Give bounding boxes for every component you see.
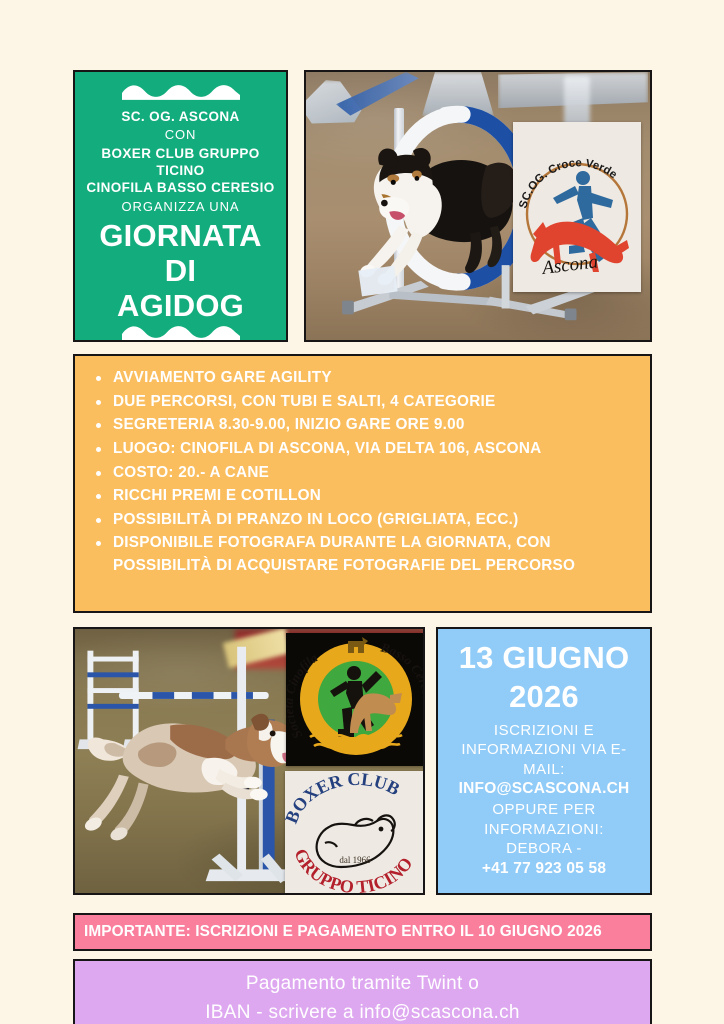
important-deadline-text: IMPORTANTE: ISCRIZIONI E PAGAMENTO ENTRO… (84, 923, 602, 941)
details-orange-panel: AVVIAMENTO GARE AGILITY DUE PERCORSI, CO… (73, 354, 652, 613)
contact-email[interactable]: INFO@SCASCONA.CH (459, 779, 630, 800)
sign-boxer-club: BOXER CLUB GRUPPO TICINO dal 1966 (285, 771, 425, 893)
list-item: COSTO: 20.- A CANE (93, 462, 636, 485)
organizza-label: ORGANIZZA UNA (122, 197, 240, 217)
org-partner-1-label: BOXER CLUB GRUPPO (101, 145, 259, 162)
boxer-club-logo-icon: BOXER CLUB GRUPPO TICINO dal 1966 (285, 771, 425, 893)
event-year-label: 2026 (509, 674, 579, 721)
list-item: DUE PERCORSI, CON TUBI E SALTI, 4 CATEGO… (93, 391, 636, 414)
org-main-label: SC. OG. ASCONA (121, 108, 239, 125)
wave-divider-bottom-icon (122, 325, 240, 341)
poster-title-line-1: GIORNATA DI (83, 219, 278, 288)
event-details-list: AVVIAMENTO GARE AGILITY DUE PERCORSI, CO… (93, 367, 636, 578)
croce-verde-logo-icon: Ascona SC.OG. Croce Verde (513, 122, 641, 292)
payment-info-panel: Pagamento tramite Twint o IBAN - scriver… (73, 959, 652, 1024)
contact-person-name: DEBORA - (506, 839, 582, 859)
photo-dog-hoop: Ascona SC.OG. Croce Verde (304, 70, 652, 342)
payment-line-2: IBAN - scrivere a info@scascona.ch (75, 999, 650, 1024)
boxer-club-year-text: dal 1966 (339, 855, 371, 865)
registration-line-3: OPPURE PER (492, 800, 595, 820)
list-item: DISPONIBILE FOTOGRAFA DURANTE LA GIORNAT… (93, 532, 636, 577)
important-deadline-bar: IMPORTANTE: ISCRIZIONI E PAGAMENTO ENTRO… (73, 913, 652, 951)
ground-paper (358, 266, 397, 297)
header-green-panel: SC. OG. ASCONA CON BOXER CLUB GRUPPO TIC… (73, 70, 288, 342)
list-item: POSSIBILITÀ DI PRANZO IN LOCO (GRIGLIATA… (93, 509, 636, 532)
poster-root: SC. OG. ASCONA CON BOXER CLUB GRUPPO TIC… (0, 0, 724, 1024)
list-item: AVVIAMENTO GARE AGILITY (93, 367, 636, 390)
sign-croce-verde: Ascona SC.OG. Croce Verde (513, 122, 641, 292)
con-label: CON (165, 125, 197, 145)
org-partner-2-label: CINOFILA BASSO CERESIO (86, 179, 274, 196)
photo-dog-jump: Società Cinofila Basso Ceresio (73, 627, 425, 895)
date-contact-panel: 13 GIUGNO 2026 ISCRIZIONI E INFORMAZIONI… (436, 627, 652, 895)
payment-line-1: Pagamento tramite Twint o (75, 970, 650, 999)
contact-phone[interactable]: +41 77 923 05 58 (482, 859, 606, 880)
poster-title-line-2: AGIDOG (117, 289, 244, 324)
list-item: LUOGO: CINOFILA DI ASCONA, VIA DELTA 106… (93, 438, 636, 461)
registration-line-4: INFORMAZIONI: (484, 820, 604, 840)
org-partner-1b-label: TICINO (156, 162, 204, 179)
sign-basso-ceresio: Società Cinofila Basso Ceresio (286, 633, 425, 766)
photo-top-scene: Ascona SC.OG. Croce Verde (306, 72, 650, 340)
list-item: SEGRETERIA 8.30-9.00, INIZIO GARE ORE 9.… (93, 414, 636, 437)
photo-bottom-scene: Società Cinofila Basso Ceresio (75, 629, 423, 893)
list-item: RICCHI PREMI E COTILLON (93, 485, 636, 508)
registration-line-2: INFORMAZIONI VIA E-MAIL: (445, 740, 643, 779)
basso-ceresio-logo-icon: Società Cinofila Basso Ceresio (286, 633, 425, 766)
registration-line-1: ISCRIZIONI E (494, 721, 594, 741)
wave-divider-top-icon (122, 84, 240, 100)
event-date-label: 13 GIUGNO (459, 641, 630, 674)
